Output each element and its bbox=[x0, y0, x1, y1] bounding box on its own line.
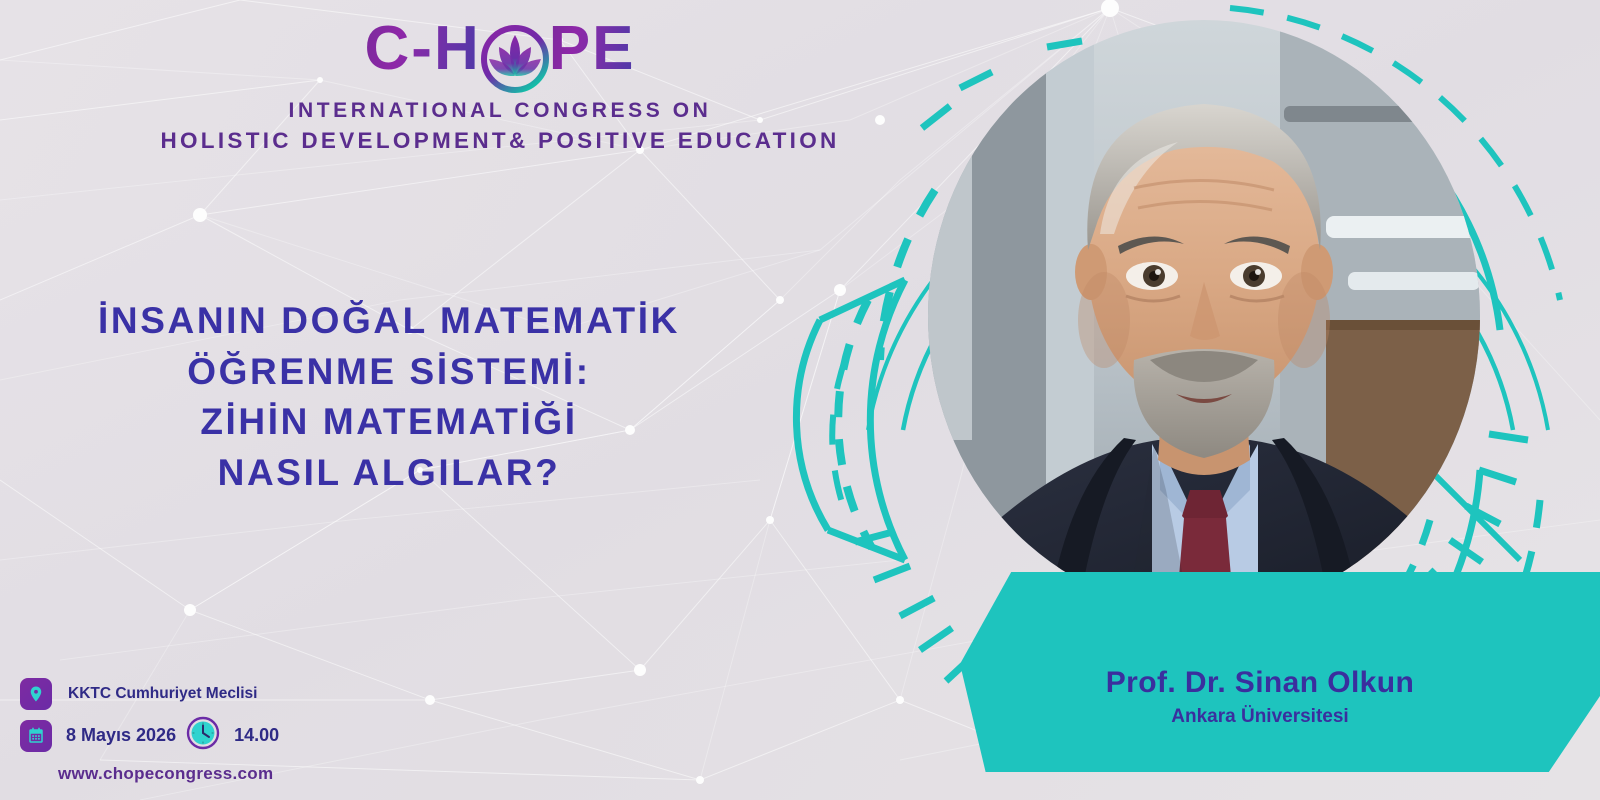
speaker-photo bbox=[928, 20, 1480, 612]
speaker-name: Prof. Dr. Sinan Olkun bbox=[1000, 666, 1520, 700]
speaker-affiliation: Ankara Üniversitesi bbox=[1000, 706, 1520, 728]
congress-announcement-poster: C-H bbox=[0, 0, 1600, 800]
speaker-portrait-illustration bbox=[928, 20, 1480, 612]
speaker-info: Prof. Dr. Sinan Olkun Ankara Üniversites… bbox=[1000, 666, 1520, 728]
